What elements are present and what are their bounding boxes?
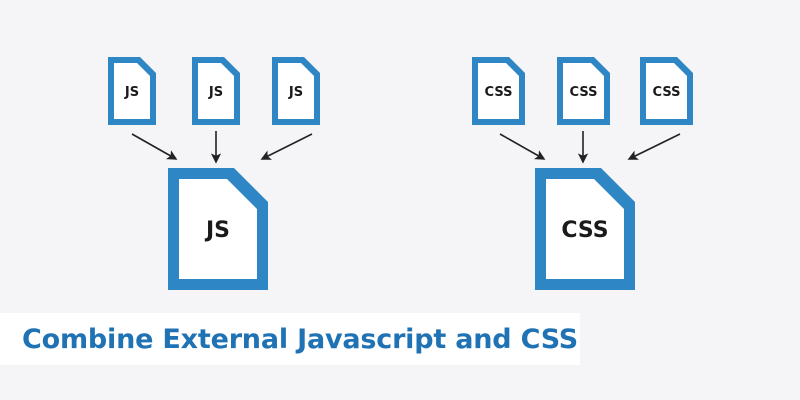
javascript-group: JSJSJSJS (108, 57, 320, 290)
css-group: CSSCSSCSSCSS (472, 57, 693, 290)
source-file-css-2-label: CSS (570, 85, 598, 100)
combined-file-css: CSS (535, 168, 635, 290)
source-file-css-3: CSS (640, 57, 693, 125)
title-band: Combine External Javascript and CSS (0, 313, 580, 365)
css-group-arrow-left (500, 134, 544, 159)
combined-file-js-label: JS (204, 218, 230, 243)
source-file-css-3-label: CSS (653, 85, 681, 100)
page-title: Combine External Javascript and CSS (22, 324, 578, 355)
diagram-canvas: JSJSJSJSCSSCSSCSSCSS Combine External Ja… (0, 0, 800, 400)
source-file-css-2: CSS (557, 57, 610, 125)
source-file-js-3-label: JS (288, 85, 303, 100)
source-file-css-1: CSS (472, 57, 525, 125)
combined-file-css-label: CSS (561, 218, 608, 243)
source-file-css-1-label: CSS (485, 85, 513, 100)
javascript-group-arrow-left (132, 134, 176, 159)
source-file-js-1: JS (108, 57, 156, 125)
source-file-js-3: JS (272, 57, 320, 125)
css-group-arrow-right (629, 134, 680, 159)
javascript-group-arrow-right (262, 134, 312, 159)
combined-file-js: JS (168, 168, 268, 290)
source-file-js-2-label: JS (208, 85, 223, 100)
source-file-js-2: JS (192, 57, 240, 125)
source-file-js-1-label: JS (124, 85, 139, 100)
